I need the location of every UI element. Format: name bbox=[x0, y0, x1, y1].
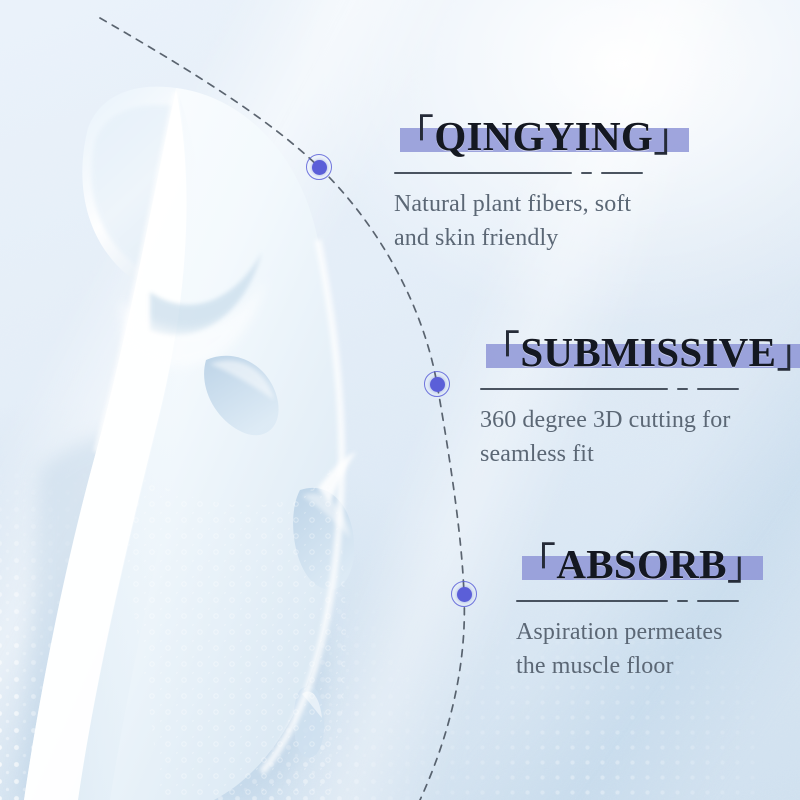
poster-canvas: 「 QINGYING 」 Natural plant fibers, soft … bbox=[0, 0, 800, 800]
feature-heading-absorb: 「 ABSORB 」 bbox=[516, 544, 767, 585]
corner-bracket-close-icon: 」 bbox=[727, 547, 767, 585]
feature-heading-submissive: 「 SUBMISSIVE 」 bbox=[480, 332, 800, 373]
marker-ring bbox=[306, 154, 332, 180]
feature-description-qingying: Natural plant fibers, soft and skin frie… bbox=[394, 187, 693, 255]
description-line: the muscle floor bbox=[516, 649, 767, 683]
description-line: Aspiration permeates bbox=[516, 615, 767, 649]
divider-segment-medium bbox=[697, 600, 739, 602]
description-line: and skin friendly bbox=[394, 221, 693, 255]
feature-block-submissive: 「 SUBMISSIVE 」 360 degree 3D cutting for… bbox=[480, 332, 800, 471]
sheet-mask-illustration bbox=[0, 0, 430, 800]
feature-divider bbox=[480, 388, 800, 390]
divider-segment-dash bbox=[677, 388, 688, 390]
feature-block-qingying: 「 QINGYING 」 Natural plant fibers, soft … bbox=[394, 116, 693, 255]
feature-title: QINGYING bbox=[434, 116, 653, 157]
corner-bracket-open-icon: 「 bbox=[394, 116, 434, 154]
marker-ring bbox=[451, 581, 477, 607]
divider-segment-long bbox=[480, 388, 668, 390]
feature-title: ABSORB bbox=[556, 544, 726, 585]
divider-segment-medium bbox=[697, 388, 739, 390]
marker-dot-absorb[interactable] bbox=[451, 581, 477, 607]
corner-bracket-open-icon: 「 bbox=[480, 332, 520, 370]
description-line: seamless fit bbox=[480, 437, 800, 471]
divider-segment-dash bbox=[581, 172, 592, 174]
marker-dot-submissive[interactable] bbox=[424, 371, 450, 397]
feature-title: SUBMISSIVE bbox=[520, 332, 776, 373]
description-line: 360 degree 3D cutting for bbox=[480, 403, 800, 437]
description-line: Natural plant fibers, soft bbox=[394, 187, 693, 221]
divider-segment-long bbox=[516, 600, 668, 602]
corner-bracket-open-icon: 「 bbox=[516, 544, 556, 582]
marker-dot-qingying[interactable] bbox=[306, 154, 332, 180]
feature-heading-qingying: 「 QINGYING 」 bbox=[394, 116, 693, 157]
divider-segment-dash bbox=[677, 600, 688, 602]
corner-bracket-close-icon: 」 bbox=[776, 335, 800, 373]
feature-block-absorb: 「 ABSORB 」 Aspiration permeates the musc… bbox=[516, 544, 767, 683]
divider-segment-long bbox=[394, 172, 572, 174]
marker-ring bbox=[424, 371, 450, 397]
feature-divider bbox=[516, 600, 767, 602]
feature-description-submissive: 360 degree 3D cutting for seamless fit bbox=[480, 403, 800, 471]
feature-divider bbox=[394, 172, 693, 174]
corner-bracket-close-icon: 」 bbox=[653, 119, 693, 157]
divider-segment-medium bbox=[601, 172, 643, 174]
feature-description-absorb: Aspiration permeates the muscle floor bbox=[516, 615, 767, 683]
